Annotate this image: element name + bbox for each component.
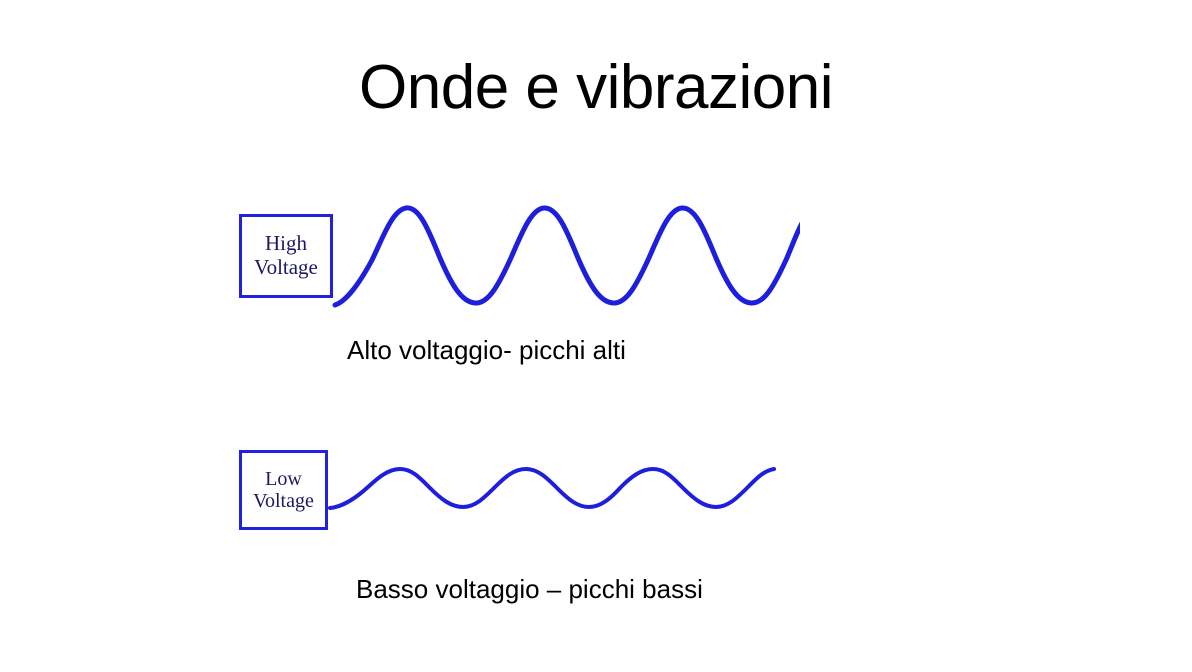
high-voltage-caption: Alto voltaggio- picchi alti (347, 335, 626, 366)
high-voltage-label-line2: Voltage (254, 256, 318, 280)
page-title: Onde e vibrazioni (0, 52, 1192, 123)
low-voltage-label-line1: Low (265, 468, 302, 490)
low-voltage-label-line2: Voltage (253, 490, 314, 512)
low-voltage-waveform (320, 445, 790, 535)
high-voltage-label-line1: High (265, 232, 307, 256)
high-voltage-wave-path (335, 208, 800, 305)
high-voltage-waveform (320, 190, 800, 325)
low-voltage-label-box: Low Voltage (239, 450, 328, 530)
low-voltage-wave-path (330, 469, 774, 508)
slide-canvas: Onde e vibrazioni High Voltage Alto volt… (0, 0, 1192, 672)
high-voltage-label-box: High Voltage (239, 214, 333, 298)
low-voltage-caption: Basso voltaggio – picchi bassi (356, 574, 703, 605)
